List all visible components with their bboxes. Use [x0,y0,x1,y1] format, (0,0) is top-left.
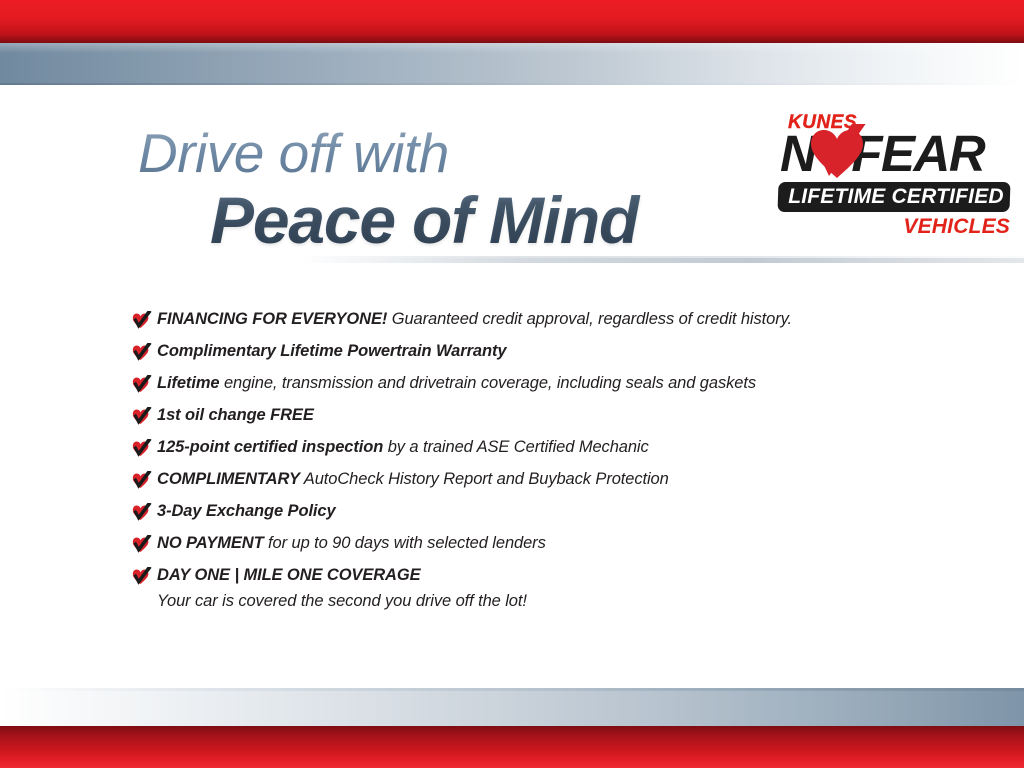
list-item: Complimentary Lifetime Powertrain Warran… [131,340,931,372]
heart-check-bullet-icon [131,375,157,397]
headline-block: Drive off with Peace of Mind [138,126,738,253]
list-item-text: COMPLIMENTARY AutoCheck History Report a… [157,468,931,490]
list-item-strong: Complimentary Lifetime Powertrain Warran… [157,342,506,360]
list-item-text: DAY ONE | MILE ONE COVERAGE [157,564,931,586]
heart-check-bullet-icon [131,535,157,557]
list-item: Lifetime engine, transmission and drivet… [131,372,931,404]
list-item-strong: 3-Day Exchange Policy [157,502,336,520]
benefits-list: FINANCING FOR EVERYONE! Guaranteed credi… [131,308,931,613]
list-item-strong: FINANCING FOR EVERYONE! [157,310,387,328]
list-item-strong: COMPLIMENTARY [157,470,300,488]
list-item: 1st oil change FREE [131,404,931,436]
list-item-rest: for up to 90 days with selected lenders [264,534,546,552]
headline-line-1: Drive off with [138,126,738,181]
list-item: DAY ONE | MILE ONE COVERAGE [131,564,931,589]
list-item-rest: Guaranteed credit approval, regardless o… [387,310,792,328]
list-item-strong: 1st oil change FREE [157,406,314,424]
heart-check-bullet-icon [131,311,157,333]
bottom-banner [0,688,1024,768]
heart-check-icon [807,124,869,186]
list-item-rest: AutoCheck History Report and Buyback Pro… [300,470,669,488]
list-item: 125-point certified inspection by a trai… [131,436,931,468]
list-item-text: Complimentary Lifetime Powertrain Warran… [157,340,931,362]
heart-check-bullet-icon [131,407,157,429]
list-item-strong: Lifetime [157,374,219,392]
top-stripe-gloss [0,43,1024,53]
heart-check-bullet-icon [131,503,157,525]
promo-graphic: Drive off with Peace of Mind KUNES NFEAR… [0,0,1024,768]
heart-check-bullet-icon [131,343,157,365]
list-item-rest: by a trained ASE Certified Mechanic [383,438,648,456]
list-item-subtext: Your car is covered the second you drive… [157,589,931,613]
list-item-strong: DAY ONE | MILE ONE COVERAGE [157,566,421,584]
heart-check-bullet-icon [131,439,157,461]
list-item-rest: engine, transmission and drivetrain cove… [219,374,756,392]
top-red-stripe [0,0,1024,43]
list-item: FINANCING FOR EVERYONE! Guaranteed credi… [131,308,931,340]
list-item: COMPLIMENTARY AutoCheck History Report a… [131,468,931,500]
list-item-text: Lifetime engine, transmission and drivet… [157,372,931,394]
list-item-text: 3-Day Exchange Policy [157,500,931,522]
list-item-strong: 125-point certified inspection [157,438,383,456]
list-item-text: NO PAYMENT for up to 90 days with select… [157,532,931,554]
kunes-no-fear-logo: KUNES NFEAR LIFETIME CERTIFIED VEHICLES [778,112,1014,244]
list-item-text: 1st oil change FREE [157,404,931,426]
list-item-text: FINANCING FOR EVERYONE! Guaranteed credi… [157,308,931,330]
logo-vehicles-text: VEHICLES [903,215,1010,239]
top-banner [0,0,1024,86]
list-item: NO PAYMENT for up to 90 days with select… [131,532,931,564]
logo-word-fear: FEAR [851,125,984,182]
headline-line-2: Peace of Mind [210,187,738,253]
list-item-strong: NO PAYMENT [157,534,264,552]
bottom-red-stripe [0,726,1024,768]
heart-check-bullet-icon [131,471,157,493]
list-item: 3-Day Exchange Policy [131,500,931,532]
logo-lifetime-certified-text: LIFETIME CERTIFIED [778,182,1014,212]
bottom-steel-stripe [0,688,1024,726]
heart-check-bullet-icon [131,567,157,589]
headline-divider [300,256,1024,263]
list-item-text: 125-point certified inspection by a trai… [157,436,931,458]
